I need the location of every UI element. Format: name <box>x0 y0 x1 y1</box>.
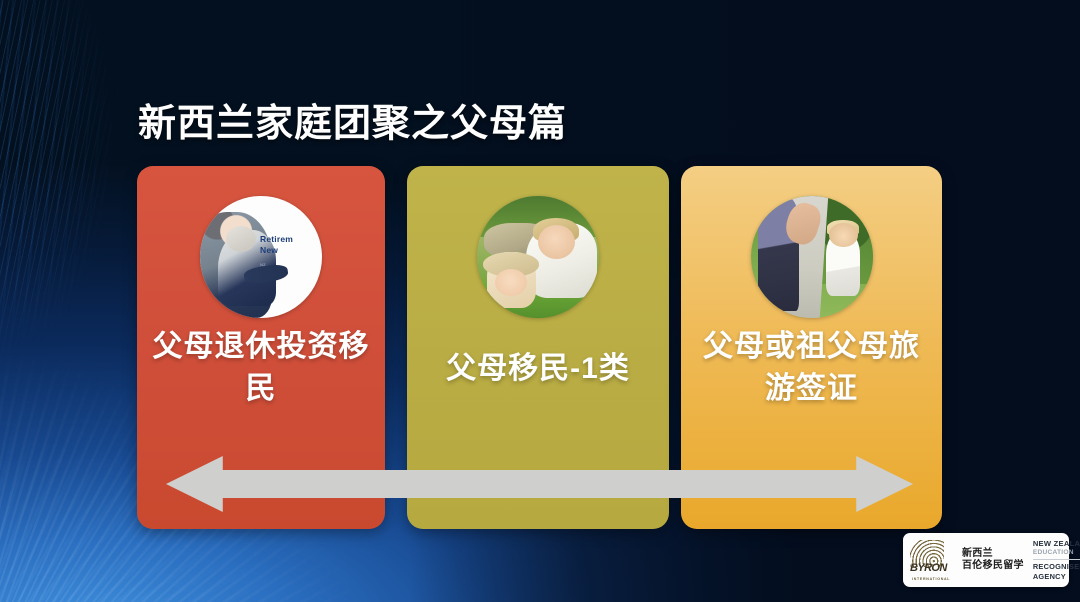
accreditation-line3: RECOGNISED <box>1033 562 1080 572</box>
card-label-parent-grandparent-visitor-visa: 父母或祖父母旅游签证 <box>681 326 942 410</box>
photo-overlay-text: Retirem New NZ <box>260 234 316 270</box>
adult-and-toddler-walking-photo <box>751 196 873 318</box>
photo-figure-hair <box>226 226 256 252</box>
byron-chinese-line1: 新西兰 <box>962 548 1024 561</box>
card-label-parent-migration-tier1: 父母移民-1类 <box>407 348 669 390</box>
photo-girl-face <box>495 269 527 296</box>
byron-wordmark-sub: INTERNATIONAL <box>912 577 958 581</box>
byron-chinese-name: 新西兰 百伦移民留学 <box>962 548 1024 573</box>
slide-canvas: 新西兰家庭团聚之父母篇 Retirem New NZ 父母退休投资移民 <box>0 0 1080 602</box>
byron-wordmark: BYRON <box>910 563 956 574</box>
byron-logo-mark: BYRON INTERNATIONAL <box>910 539 956 581</box>
woman-and-girl-on-grass-photo <box>477 196 599 318</box>
elderly-couple-retirement-brochure-photo: Retirem New NZ <box>200 196 322 318</box>
page-title: 新西兰家庭团聚之父母篇 <box>138 92 567 147</box>
nz-education-accreditation: NEW ZEALAND EDUCATION RECOGNISED AGENCY <box>1033 539 1080 582</box>
byron-chinese-line2: 百伦移民留学 <box>962 560 1024 573</box>
byron-international-logo: BYRON INTERNATIONAL 新西兰 百伦移民留学 NEW ZEALA… <box>903 533 1069 587</box>
accreditation-divider <box>1033 559 1080 560</box>
photo-overlay-line3: NZ <box>260 259 316 270</box>
photo-overlay-line2: New <box>260 245 316 256</box>
accreditation-line1: NEW ZEALAND <box>1033 539 1080 549</box>
photo-woman-face <box>538 225 575 259</box>
photo-overlay-line1: Retirem <box>260 234 316 245</box>
accreditation-line4: AGENCY <box>1033 572 1080 582</box>
accreditation-line2: EDUCATION <box>1033 548 1080 558</box>
card-label-parent-retirement-investment: 父母退休投资移民 <box>137 326 385 410</box>
